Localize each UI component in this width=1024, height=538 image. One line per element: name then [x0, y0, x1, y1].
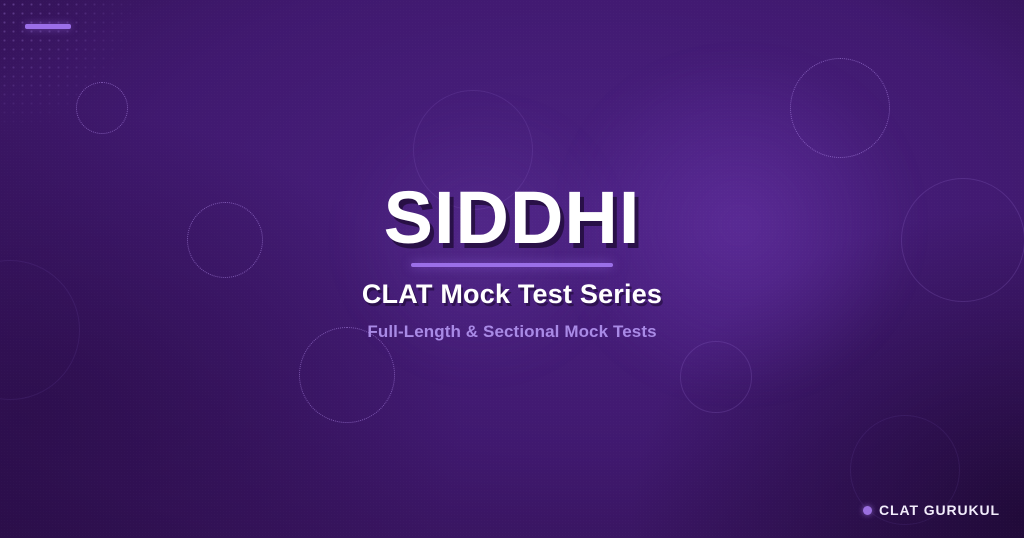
brand-badge: CLAT GURUKUL	[863, 502, 1000, 518]
top-left-accent-bar	[25, 24, 71, 29]
bullet-dot-icon	[863, 506, 872, 515]
page-title: SIDDHI	[0, 182, 1024, 255]
brand-name: CLAT GURUKUL	[879, 502, 1000, 518]
page-tagline: Full-Length & Sectional Mock Tests	[0, 322, 1024, 342]
page-subtitle: CLAT Mock Test Series	[0, 279, 1024, 310]
promo-banner: SIDDHI CLAT Mock Test Series Full-Length…	[0, 0, 1024, 538]
headline-block: SIDDHI CLAT Mock Test Series Full-Length…	[0, 182, 1024, 342]
title-underline-accent	[411, 263, 613, 267]
